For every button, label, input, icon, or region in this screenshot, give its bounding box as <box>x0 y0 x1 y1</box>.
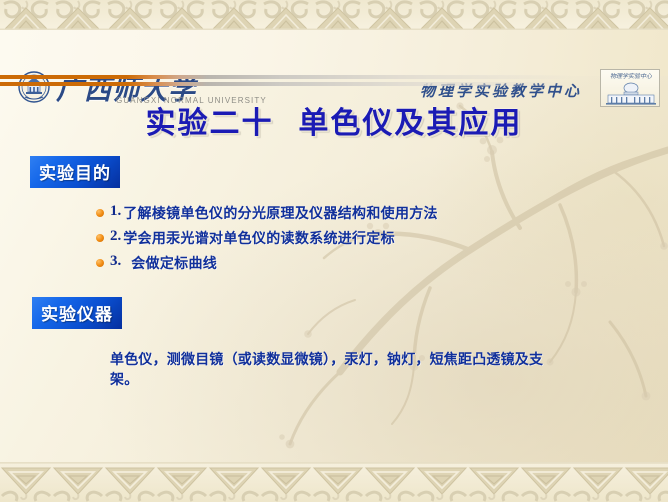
slide-header: 广西师大学 GUANGXI NORMAL UNIVERSITY 物理学实验教学中… <box>0 30 668 76</box>
accent-rule-top <box>0 75 668 79</box>
section-heading-instrument: 实验仪器 <box>32 297 122 329</box>
instrument-paragraph: 单色仪，测微目镜（或读数显微镜），汞灯，钠灯，短焦距凸透镜及支架。 <box>110 350 565 391</box>
list-item-number: 3. <box>110 253 121 270</box>
section-heading-objective: 实验目的 <box>30 156 120 188</box>
orange-dot-icon <box>96 209 104 217</box>
list-item-number: 1. <box>110 203 121 220</box>
objective-list: 1. 了解棱镜单色仪的分光原理及仪器结构和使用方法 2. 学会用汞光谱对单色仪的… <box>96 203 616 278</box>
list-item: 3. 会做定标曲线 <box>96 253 616 273</box>
list-item: 1. 了解棱镜单色仪的分光原理及仪器结构和使用方法 <box>96 203 616 223</box>
list-item: 2. 学会用汞光谱对单色仪的读数系统进行定标 <box>96 228 616 248</box>
triangle-scroll-border-icon-bottom <box>0 462 668 502</box>
list-item-label: 了解棱镜单色仪的分光原理及仪器结构和使用方法 <box>123 203 438 223</box>
orange-dot-icon <box>96 234 104 242</box>
accent-rule-bottom <box>0 82 668 86</box>
list-item-number: 2. <box>110 228 121 245</box>
orange-dot-icon <box>96 259 104 267</box>
list-item-label: 学会用汞光谱对单色仪的读数系统进行定标 <box>123 228 395 248</box>
list-item-label: 会做定标曲线 <box>123 253 217 273</box>
slide-canvas: 广西师大学 GUANGXI NORMAL UNIVERSITY 物理学实验教学中… <box>0 0 668 502</box>
triangle-scroll-border-icon <box>0 0 668 30</box>
page-title: 实验二十 单色仪及其应用 <box>0 98 668 142</box>
